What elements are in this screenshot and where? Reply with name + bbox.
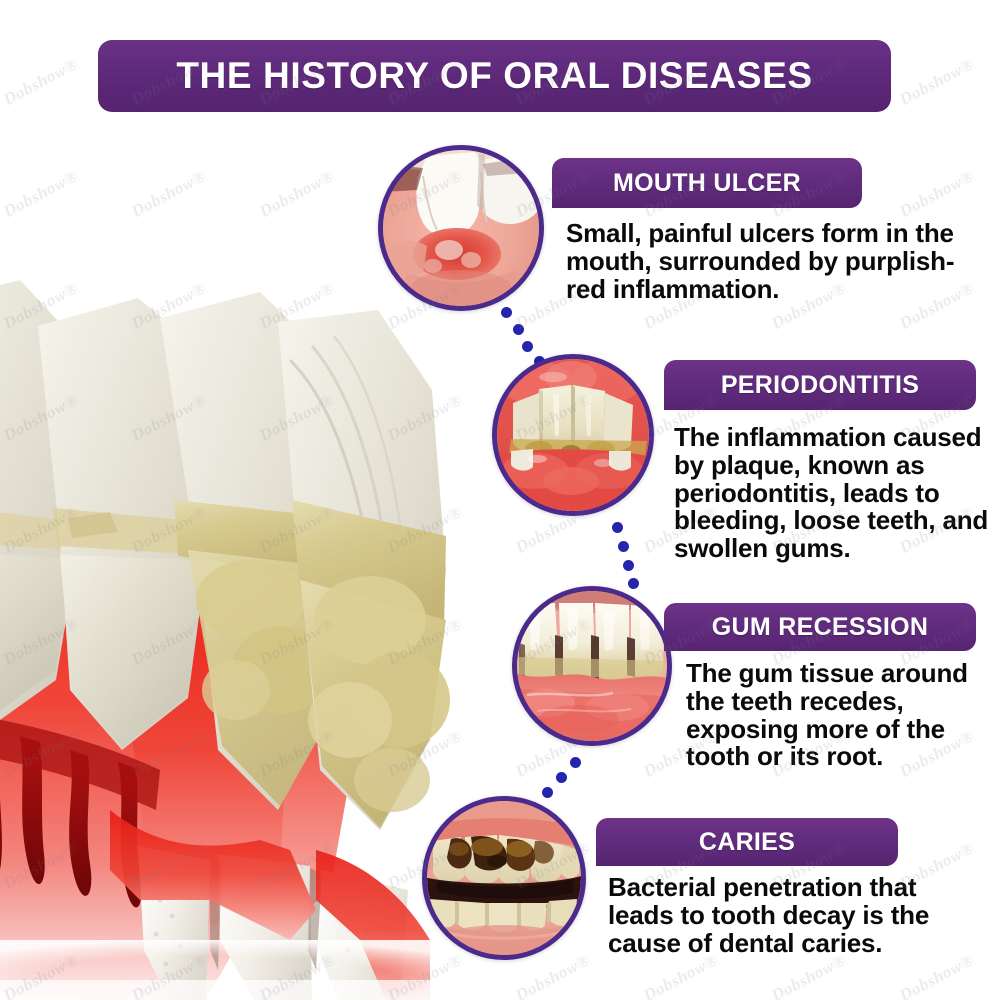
section-description-caries: Bacterial penetration that leads to toot… <box>608 874 988 957</box>
connector-dot <box>618 541 629 552</box>
watermark-text: Dobshow® <box>896 950 978 1000</box>
connector-dot <box>612 522 623 533</box>
watermark-text: Dobshow® <box>0 726 82 782</box>
watermark-text: Dobshow® <box>0 54 82 110</box>
watermark-text: Dobshow® <box>128 502 210 558</box>
section-description-periodontitis: The inflammation caused by plaque, known… <box>674 424 1000 563</box>
watermark-text: Dobshow® <box>256 502 338 558</box>
connector-dot <box>556 772 567 783</box>
watermark-text: Dobshow® <box>384 950 466 1000</box>
watermark-text: Dobshow® <box>128 614 210 670</box>
connector-dot <box>542 787 553 798</box>
watermark-text: Dobshow® <box>128 838 210 894</box>
watermark-text: Dobshow® <box>256 390 338 446</box>
watermark-text: Dobshow® <box>256 278 338 334</box>
watermark-text: Dobshow® <box>128 166 210 222</box>
caries-photo <box>422 796 586 960</box>
watermark-text: Dobshow® <box>256 726 338 782</box>
watermark-text: Dobshow® <box>0 950 82 1000</box>
connector-dot <box>570 757 581 768</box>
watermark-text: Dobshow® <box>896 54 978 110</box>
watermark-text: Dobshow® <box>0 390 82 446</box>
section-description-gum-recession: The gum tissue around the teeth recedes,… <box>686 660 1000 771</box>
watermark-text: Dobshow® <box>256 838 338 894</box>
watermark-text: Dobshow® <box>384 726 466 782</box>
section-label-caries: CARIES <box>596 818 898 866</box>
watermark-text: Dobshow® <box>384 390 466 446</box>
section-label-gum-recession: GUM RECESSION <box>664 603 976 651</box>
watermark-text: Dobshow® <box>0 838 82 894</box>
gum-recession-photo <box>512 586 672 746</box>
watermark-text: Dobshow® <box>512 950 594 1000</box>
watermark-text: Dobshow® <box>0 502 82 558</box>
watermark-text: Dobshow® <box>128 950 210 1000</box>
infographic-poster: THE HISTORY OF ORAL DISEASES <box>0 0 1000 1000</box>
watermark-text: Dobshow® <box>256 166 338 222</box>
page-title: THE HISTORY OF ORAL DISEASES <box>176 55 812 97</box>
connector-dot <box>628 578 639 589</box>
connector-dot <box>623 560 634 571</box>
watermark-text: Dobshow® <box>0 614 82 670</box>
section-label-text: GUM RECESSION <box>712 613 928 642</box>
connector-dot <box>513 324 524 335</box>
section-label-text: PERIODONTITIS <box>721 371 919 400</box>
bleeding-gums-cross-section-illustration <box>0 250 460 1000</box>
watermark-text: Dobshow® <box>256 950 338 1000</box>
connector-dot <box>501 307 512 318</box>
periodontitis-photo <box>492 354 654 516</box>
section-label-text: CARIES <box>699 828 795 857</box>
watermark-text: Dobshow® <box>128 726 210 782</box>
watermark-text: Dobshow® <box>128 390 210 446</box>
watermark-text: Dobshow® <box>384 614 466 670</box>
page-title-banner: THE HISTORY OF ORAL DISEASES <box>98 40 891 112</box>
watermark-text: Dobshow® <box>0 278 82 334</box>
watermark-text: Dobshow® <box>0 166 82 222</box>
watermark-text: Dobshow® <box>256 614 338 670</box>
section-label-mouth-ulcer: MOUTH ULCER <box>552 158 862 208</box>
section-label-periodontitis: PERIODONTITIS <box>664 360 976 410</box>
watermark-text: Dobshow® <box>896 166 978 222</box>
watermark-text: Dobshow® <box>384 502 466 558</box>
connector-dot <box>522 341 533 352</box>
section-description-mouth-ulcer: Small, painful ulcers form in the mouth,… <box>566 220 966 303</box>
section-label-text: MOUTH ULCER <box>613 169 801 198</box>
watermark-text: Dobshow® <box>128 278 210 334</box>
mouth-ulcer-photo <box>378 145 544 311</box>
